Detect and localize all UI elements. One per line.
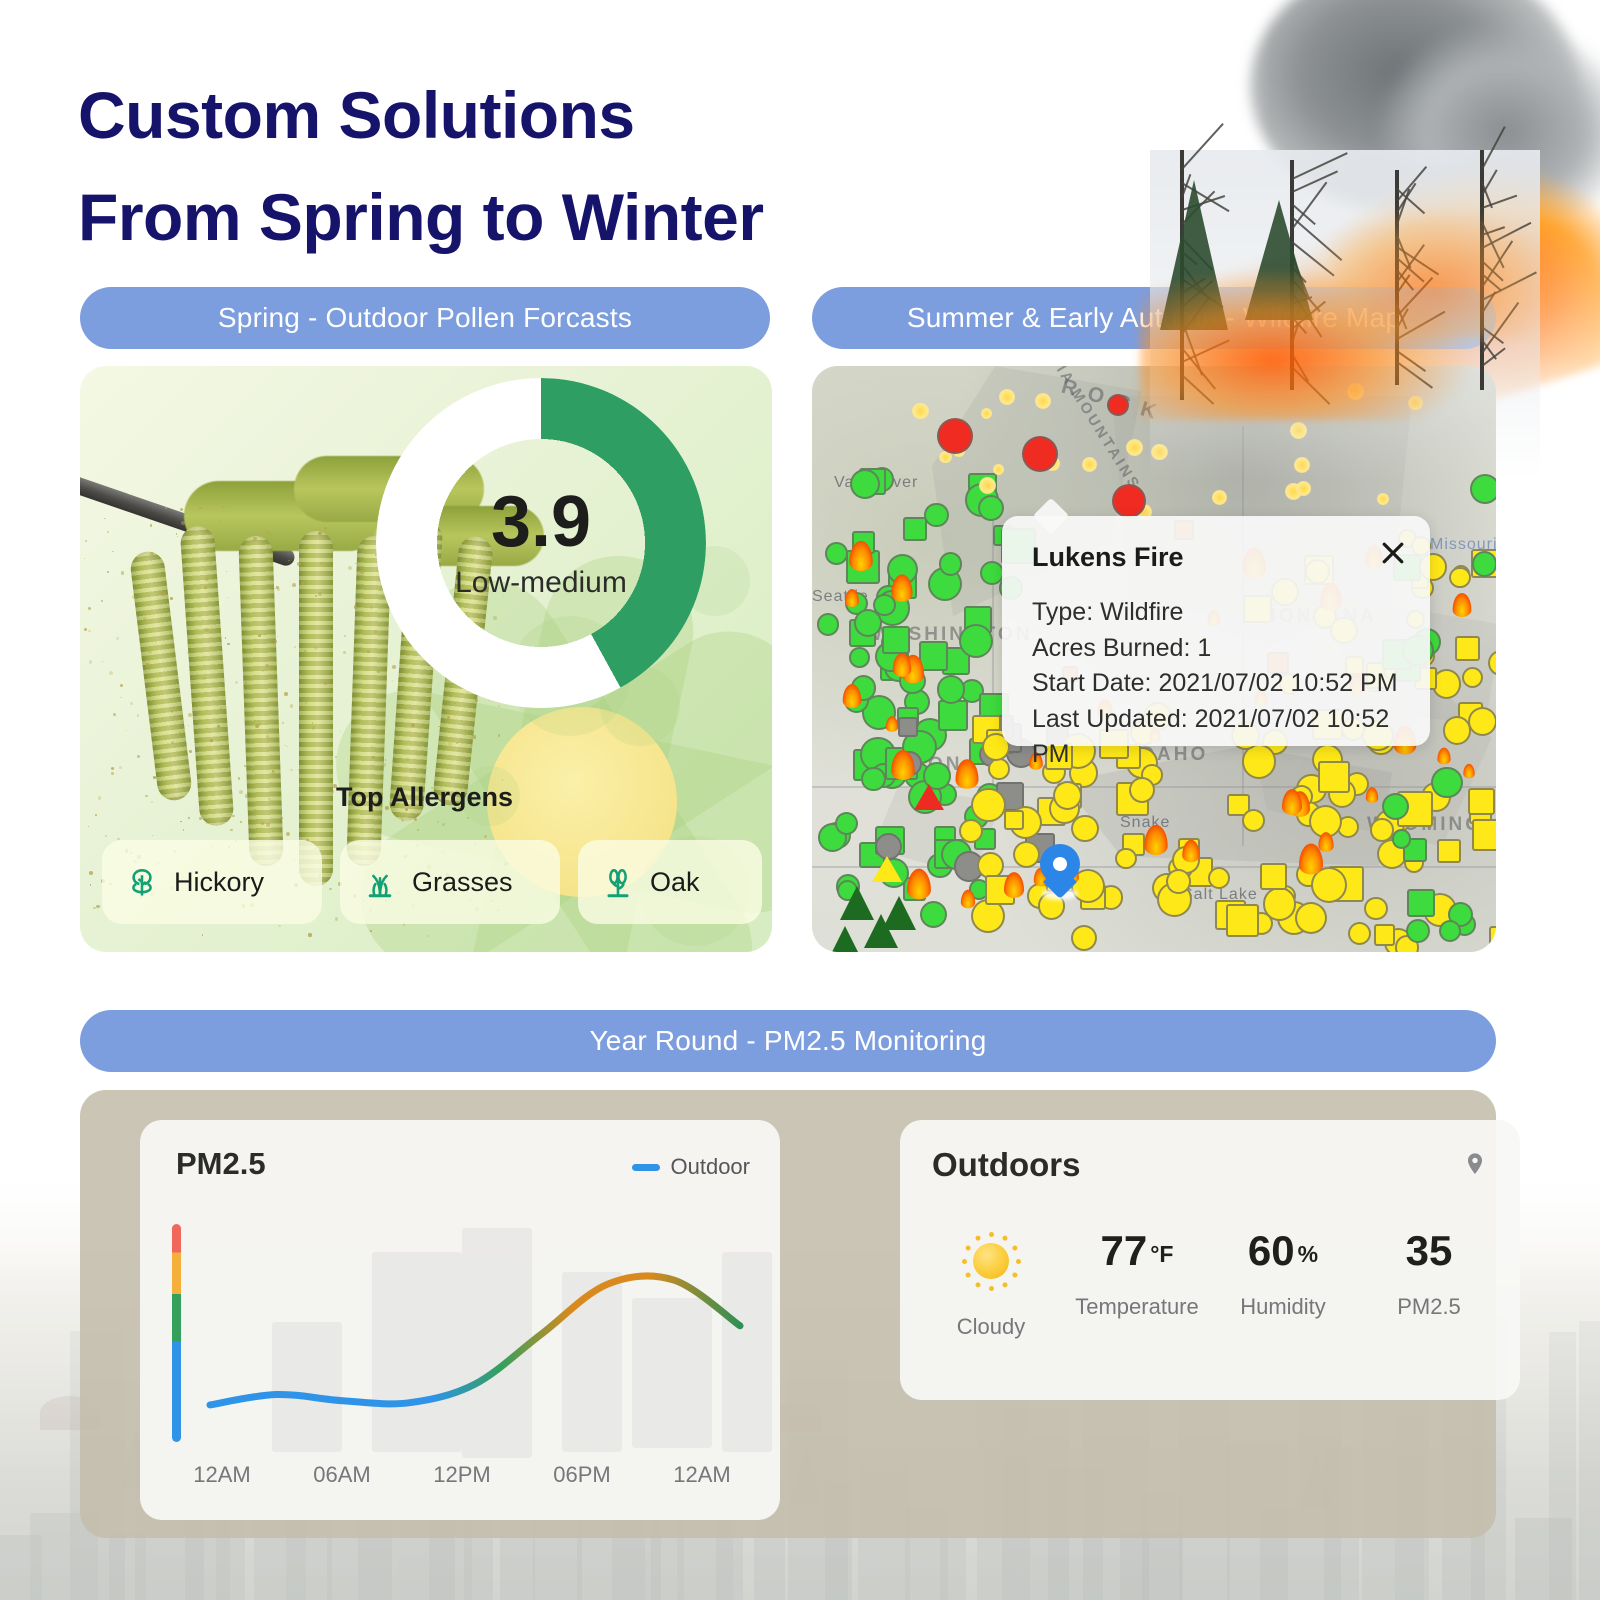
sun-ray: [989, 1232, 994, 1237]
map-marker[interactable]: [937, 418, 973, 454]
map-marker[interactable]: [978, 495, 1004, 521]
map-marker[interactable]: [1449, 567, 1470, 588]
pin-dot: [1053, 857, 1067, 871]
map-marker[interactable]: [971, 788, 1005, 822]
forest-icon: [882, 896, 916, 930]
map-marker[interactable]: [850, 469, 880, 499]
tree-icon: [124, 864, 160, 900]
map-marker-small[interactable]: [1212, 490, 1227, 505]
sun-icon: [960, 1230, 1022, 1292]
map-marker[interactable]: [1295, 902, 1327, 934]
map-marker[interactable]: [1462, 667, 1483, 688]
metric-unit: °F: [1150, 1241, 1173, 1267]
wildfire-photo: [1130, 0, 1600, 416]
sun-core: [973, 1243, 1009, 1279]
metric-humidity: 60% Humidity: [1210, 1230, 1356, 1340]
pm25-chart-card: PM2.5 Outdoor: [140, 1120, 780, 1520]
oak-sprout-icon: [600, 864, 636, 900]
x-tick-label: 12PM: [402, 1462, 522, 1488]
fire-info-popup: Lukens Fire Type: Wildfire Acres Burned:…: [1002, 516, 1430, 746]
poster-root: Custom Solutions From Spring to Winter S…: [0, 0, 1600, 1600]
allergen-chip-hickory[interactable]: Hickory: [102, 840, 322, 924]
allergen-label: Hickory: [174, 867, 264, 898]
map-marker[interactable]: [1407, 889, 1435, 917]
allergen-chip-oak[interactable]: Oak: [578, 840, 762, 924]
outdoors-summary-card: Outdoors Cloudy 77°F Temperature 60%: [900, 1120, 1520, 1400]
chart-x-tick-labels: 12AM06AM12PM06PM12AM: [162, 1462, 762, 1488]
pollen-index-value: 3.9: [411, 486, 671, 558]
gauge-readout: 3.9 Low-medium: [411, 486, 671, 600]
fire-glyph: [845, 589, 859, 607]
banner-summer: Summer & Early Autumn - Wildfire Map: [812, 287, 1496, 349]
map-marker[interactable]: [1382, 793, 1409, 820]
sun-ray: [974, 1234, 981, 1241]
metric-unit: %: [1298, 1241, 1318, 1267]
metric-label: Temperature: [1064, 1294, 1210, 1320]
metric-weather: Cloudy: [918, 1230, 1064, 1340]
sun-ray: [1011, 1271, 1018, 1278]
map-marker[interactable]: [937, 675, 965, 703]
map-marker-small[interactable]: [1151, 444, 1168, 461]
metric-label: Humidity: [1210, 1294, 1356, 1320]
popup-details: Type: Wildfire Acres Burned: 1 Start Dat…: [1032, 595, 1404, 773]
pm25-monitoring-section: PM2.5 Outdoor: [80, 1090, 1496, 1538]
pollen-index-gauge: 3.9 Low-medium: [376, 378, 706, 708]
map-marker-small[interactable]: [1347, 383, 1364, 400]
banner-year-round: Year Round - PM2.5 Monitoring: [80, 1010, 1496, 1072]
map-marker[interactable]: [1107, 394, 1129, 416]
map-marker-small[interactable]: [999, 389, 1015, 405]
map-marker[interactable]: [1472, 819, 1496, 851]
map-marker[interactable]: [1489, 926, 1496, 952]
map-marker[interactable]: [835, 812, 858, 835]
headline-line-1: Custom Solutions: [78, 64, 1028, 166]
map-marker[interactable]: [1115, 848, 1137, 870]
fire-glyph: [886, 716, 898, 732]
location-pin-icon[interactable]: [1462, 1148, 1488, 1180]
pollen-forecast-card: 3.9 Low-medium Top Allergens Hickory: [80, 366, 772, 952]
map-marker[interactable]: [1263, 887, 1296, 920]
map-marker-small[interactable]: [912, 403, 929, 420]
allergen-chip-list: Hickory Grasses Oak: [102, 840, 762, 924]
forest-icon: [828, 926, 862, 952]
chart-plot-area: [162, 1212, 762, 1448]
map-marker[interactable]: [825, 542, 848, 565]
metric-pm25: 35 PM2.5: [1356, 1230, 1502, 1340]
pm25-line-series: [162, 1212, 762, 1448]
x-tick-label: 12AM: [162, 1462, 282, 1488]
map-marker[interactable]: [1004, 810, 1025, 831]
map-marker[interactable]: [1166, 869, 1191, 894]
sun-ray: [1001, 1281, 1008, 1288]
map-marker[interactable]: [1468, 707, 1496, 736]
fire-glyph: [1182, 840, 1199, 862]
sun-ray: [964, 1244, 971, 1251]
allergen-chip-grasses[interactable]: Grasses: [340, 840, 560, 924]
popup-row-start-date: Start Date: 2021/07/02 10:52 PM: [1032, 666, 1404, 702]
map-marker[interactable]: [1208, 867, 1230, 889]
map-marker[interactable]: [861, 767, 886, 792]
popup-row-acres: Acres Burned: 1: [1032, 631, 1404, 667]
location-pin-icon[interactable]: [1040, 844, 1080, 898]
map-marker[interactable]: [1374, 924, 1395, 945]
sun-ray: [989, 1286, 994, 1291]
wildfire-map-card[interactable]: COLUMBIA MOUNTAINSR O C KVancouverSeattl…: [812, 366, 1496, 952]
map-marker[interactable]: [1129, 777, 1155, 803]
map-marker[interactable]: [1470, 474, 1496, 504]
sun-ray: [1016, 1259, 1021, 1264]
map-marker[interactable]: [882, 626, 909, 653]
outdoors-title: Outdoors: [932, 1146, 1080, 1184]
map-marker[interactable]: [1468, 788, 1495, 815]
fire-glyph: [1318, 832, 1333, 852]
metric-label: PM2.5: [1356, 1294, 1502, 1320]
map-marker[interactable]: [1013, 841, 1040, 868]
headline-line-2: From Spring to Winter: [78, 166, 1028, 268]
page-title: Custom Solutions From Spring to Winter: [78, 64, 1028, 269]
sun-ray: [974, 1281, 981, 1288]
fire-glyph: [1437, 748, 1450, 765]
legend-label-outdoor: Outdoor: [671, 1154, 751, 1180]
map-marker[interactable]: [1071, 925, 1097, 951]
map-marker[interactable]: [1431, 767, 1462, 798]
map-marker[interactable]: [1112, 484, 1146, 518]
map-marker[interactable]: [1472, 551, 1496, 577]
photo-fade-left: [1130, 0, 1600, 416]
allergen-label: Grasses: [412, 867, 513, 898]
pollen-index-label: Low-medium: [411, 566, 671, 600]
map-marker[interactable]: [1022, 436, 1058, 472]
x-tick-label: 12AM: [642, 1462, 762, 1488]
banner-spring: Spring - Outdoor Pollen Forcasts: [80, 287, 770, 349]
sun-ray: [1001, 1234, 1008, 1241]
metric-label: Cloudy: [918, 1314, 1064, 1340]
map-marker[interactable]: [1053, 781, 1082, 810]
map-marker[interactable]: [1437, 839, 1462, 864]
map-marker[interactable]: [849, 647, 870, 668]
top-allergens-title: Top Allergens: [336, 782, 513, 813]
map-marker[interactable]: [1364, 897, 1387, 920]
map-marker[interactable]: [817, 613, 840, 636]
warning-triangle-icon[interactable]: [872, 856, 902, 882]
x-tick-label: 06AM: [282, 1462, 402, 1488]
popup-row-type: Type: Wildfire: [1032, 595, 1404, 631]
sun-ray: [964, 1271, 971, 1278]
map-marker[interactable]: [959, 819, 983, 843]
chart-title: PM2.5: [176, 1146, 266, 1182]
metric-temperature: 77°F Temperature: [1064, 1230, 1210, 1340]
map-marker-small[interactable]: [993, 464, 1004, 475]
fire-glyph: [960, 890, 974, 908]
map-marker[interactable]: [1455, 636, 1480, 661]
sun-ray: [1011, 1244, 1018, 1251]
popup-title: Lukens Fire: [1032, 542, 1404, 573]
map-marker[interactable]: [898, 717, 918, 737]
map-marker[interactable]: [854, 609, 882, 637]
legend-swatch-outdoor: [632, 1164, 660, 1171]
x-tick-label: 06PM: [522, 1462, 642, 1488]
map-marker-small[interactable]: [1294, 457, 1310, 473]
map-marker[interactable]: [1260, 863, 1287, 890]
outdoors-metrics: Cloudy 77°F Temperature 60% Humidity 35 …: [918, 1230, 1502, 1340]
metric-value: 35: [1356, 1230, 1502, 1272]
metric-value: 77°F: [1064, 1230, 1210, 1272]
map-marker[interactable]: [1226, 904, 1259, 937]
allergen-label: Oak: [650, 867, 700, 898]
map-marker[interactable]: [1439, 920, 1461, 942]
chart-legend: Outdoor: [632, 1154, 751, 1180]
warning-triangle-icon[interactable]: [914, 784, 944, 810]
fire-glyph: [843, 685, 862, 709]
map-marker[interactable]: [903, 517, 927, 541]
popup-row-last-updated: Last Updated: 2021/07/02 10:52 PM: [1032, 702, 1404, 773]
map-marker-small[interactable]: [1296, 481, 1310, 495]
map-marker[interactable]: [938, 700, 969, 731]
metric-value: 60%: [1210, 1230, 1356, 1272]
grass-icon: [362, 864, 398, 900]
map-marker[interactable]: [988, 758, 1010, 780]
map-marker[interactable]: [1392, 829, 1411, 848]
close-icon[interactable]: [1378, 538, 1408, 568]
sun-ray: [962, 1259, 967, 1264]
